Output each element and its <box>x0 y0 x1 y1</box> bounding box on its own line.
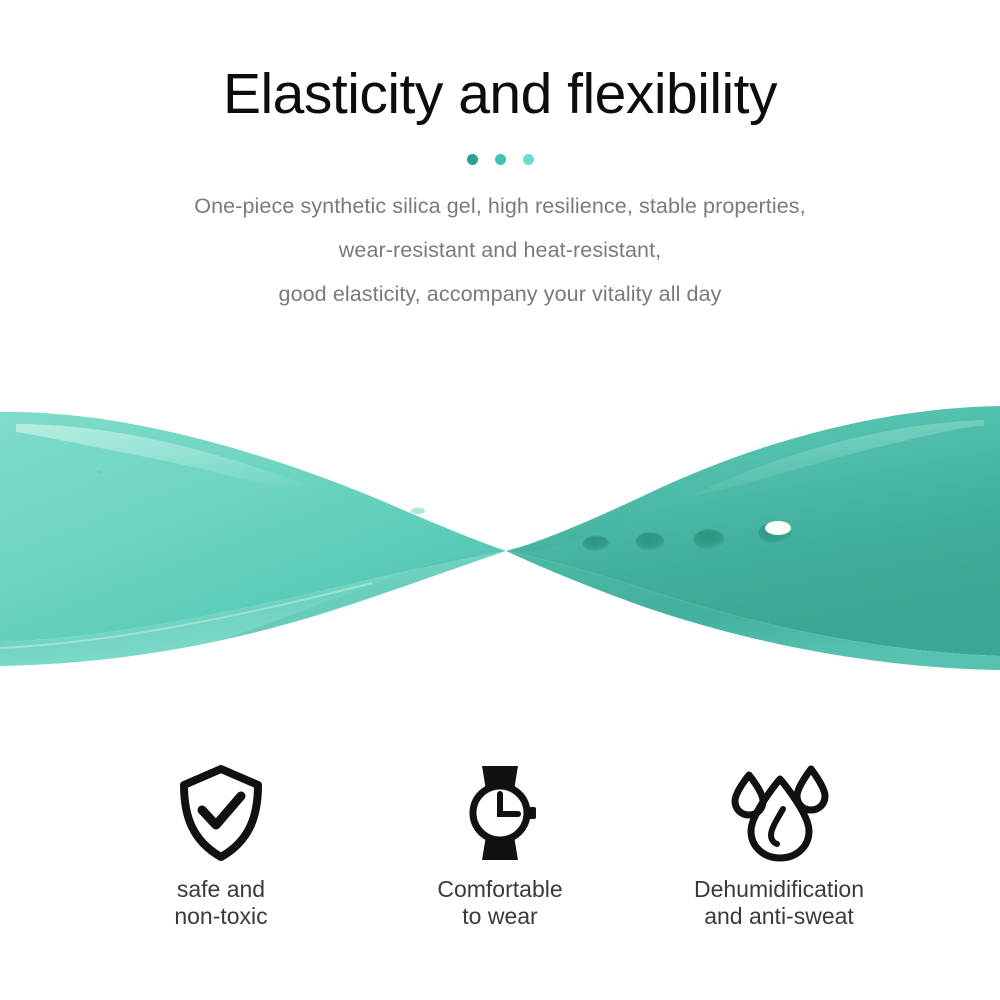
band-speck-1 <box>96 471 101 474</box>
feature-icon-wrap-1 <box>175 760 267 866</box>
dot-2-icon <box>495 154 506 165</box>
feature-item-dry: Dehumidification and anti-sweat <box>654 760 904 960</box>
feature-icon-wrap-3 <box>727 760 831 866</box>
water-drops-icon <box>727 763 831 863</box>
product-photo <box>0 380 1000 680</box>
feature-label-3: Dehumidification and anti-sweat <box>694 876 864 930</box>
feature-label-1: safe and non-toxic <box>174 876 267 930</box>
feature-label-1-line-1: safe and <box>174 876 267 903</box>
dot-3-icon <box>523 154 534 165</box>
dot-1-icon <box>467 154 478 165</box>
band-hole-1-shade <box>584 536 608 548</box>
feature-label-2: Comfortable to wear <box>437 876 562 930</box>
wristwatch-icon <box>458 763 542 863</box>
shield-check-icon <box>175 763 267 863</box>
subtitle-block: One-piece synthetic silica gel, high res… <box>0 184 1000 316</box>
header-block: Elasticity and flexibility One-piece syn… <box>0 0 1000 316</box>
band-hole-4-through <box>765 521 791 535</box>
page-title: Elasticity and flexibility <box>0 0 1000 128</box>
product-infographic-page: Elasticity and flexibility One-piece syn… <box>0 0 1000 1000</box>
twisted-band-illustration <box>0 380 1000 680</box>
feature-row: safe and non-toxic <box>0 760 1000 960</box>
band-hole-2-shade <box>637 532 663 546</box>
feature-label-1-line-2: non-toxic <box>174 903 267 930</box>
feature-label-3-line-2: and anti-sweat <box>694 903 864 930</box>
feature-item-comfort: Comfortable to wear <box>375 760 625 960</box>
feature-item-safe: safe and non-toxic <box>96 760 346 960</box>
band-speck-3 <box>411 508 425 515</box>
feature-icon-wrap-2 <box>458 760 542 866</box>
band-speck-2 <box>230 527 234 530</box>
subtitle-line-3: good elasticity, accompany your vitality… <box>0 272 1000 316</box>
dot-separator <box>0 154 1000 166</box>
band-hole-3-shade <box>695 529 723 544</box>
feature-label-2-line-1: Comfortable <box>437 876 562 903</box>
feature-label-3-line-1: Dehumidification <box>694 876 864 903</box>
subtitle-line-1: One-piece synthetic silica gel, high res… <box>0 184 1000 228</box>
feature-label-2-line-2: to wear <box>437 903 562 930</box>
subtitle-line-2: wear-resistant and heat-resistant, <box>0 228 1000 272</box>
